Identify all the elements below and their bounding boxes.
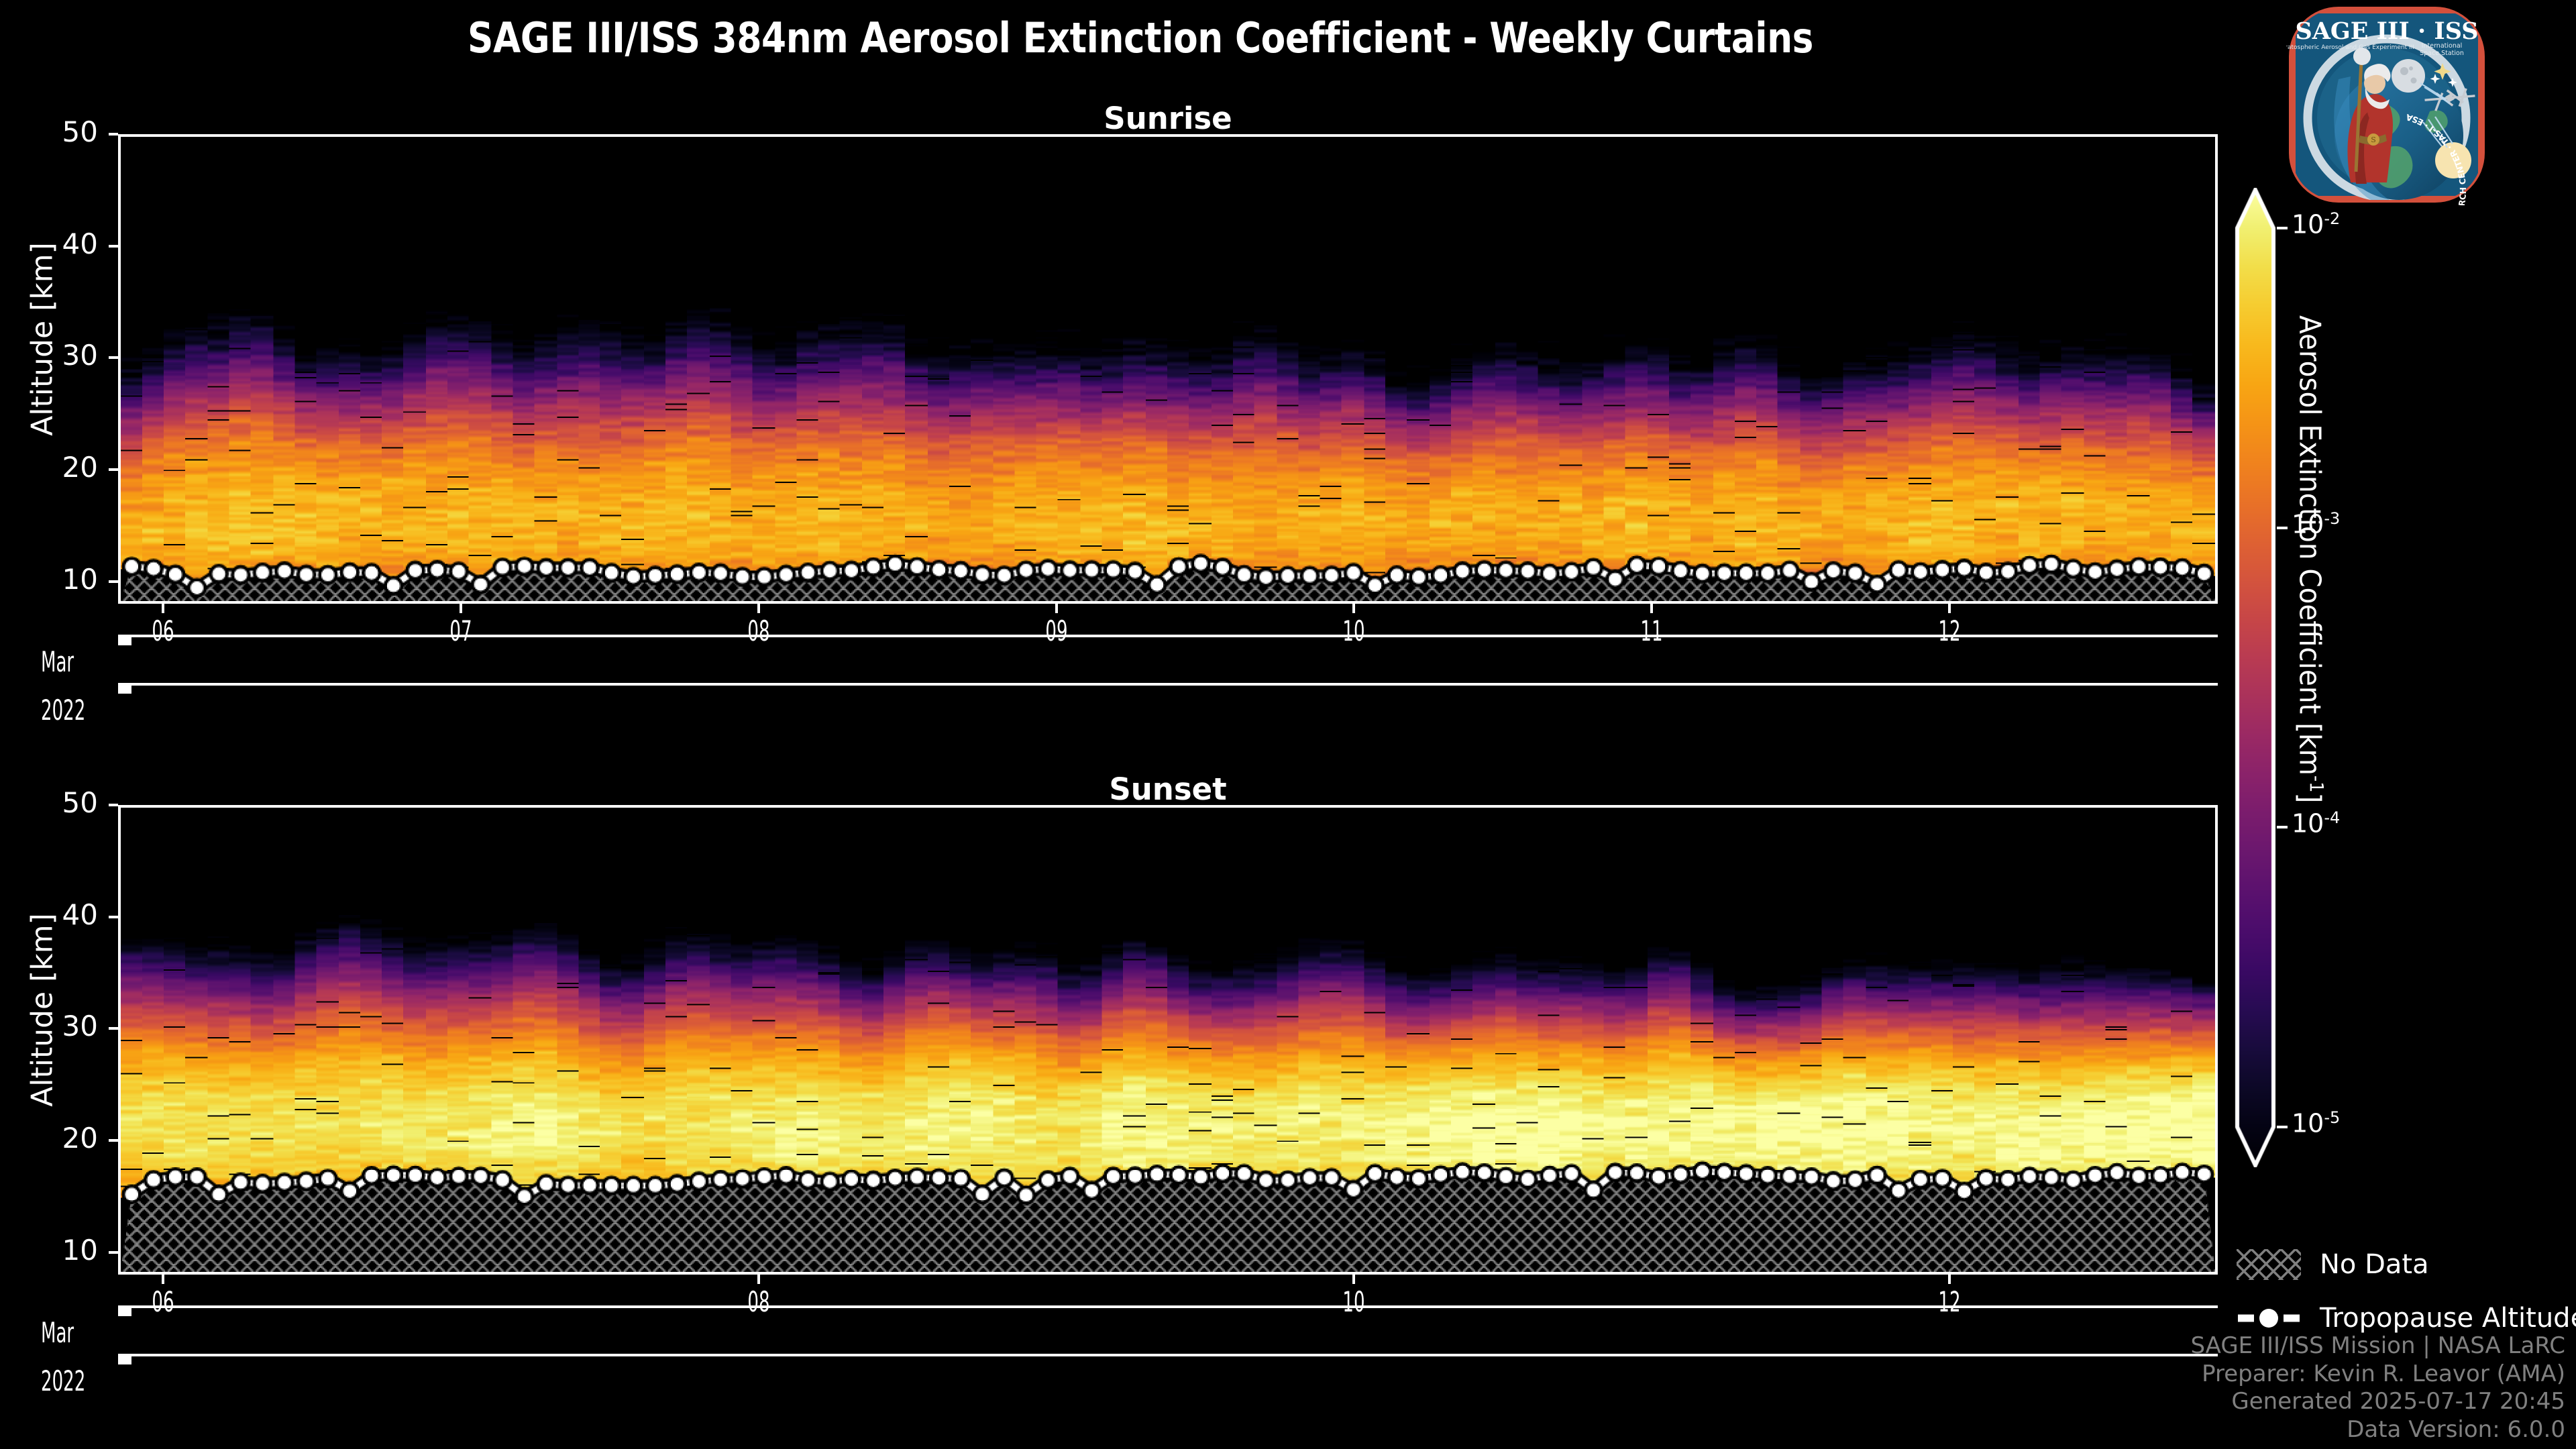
colorbar-axis-label: Aerosol Extinction Coefficient [km-1]	[2292, 315, 2328, 803]
x-axis-month-band-label: Mar	[41, 645, 74, 678]
y-tick-label: 10	[17, 563, 98, 596]
x-axis-year-band-tick	[118, 1356, 131, 1364]
x-tick-mark	[1948, 604, 1951, 613]
footer-credits: SAGE III/ISS Mission | NASA LaRC Prepare…	[2190, 1332, 2565, 1444]
y-tick-label: 40	[17, 227, 98, 260]
page-title: SAGE III/ISS 384nm Aerosol Extinction Co…	[160, 13, 2121, 62]
x-tick-mark	[1948, 1275, 1951, 1284]
x-tick-label: 06	[138, 1285, 187, 1318]
x-tick-label: 09	[1031, 614, 1081, 647]
x-tick-label: 12	[1925, 614, 1974, 647]
sage-iii-iss-mission-patch: S SAGE III · ISS Stratospheric Aerosol a…	[2286, 4, 2487, 205]
x-axis-year-band-tick	[118, 686, 131, 694]
panel-title-sunrise: Sunrise	[118, 101, 2218, 136]
x-axis-year-band-label: 2022	[41, 1364, 85, 1397]
x-tick-label: 12	[1925, 1285, 1974, 1318]
colorbar-tick-mark	[2277, 527, 2288, 529]
footer-line-preparer: Preparer: Kevin R. Leavor (AMA)	[2190, 1360, 2565, 1388]
footer-line-generated: Generated 2025-07-17 20:45	[2190, 1388, 2565, 1415]
legend-label-tropopause: Tropopause Altitude	[2320, 1303, 2576, 1334]
x-tick-mark	[162, 1275, 164, 1284]
y-tick-mark	[109, 916, 118, 918]
y-tick-label: 30	[17, 339, 98, 372]
y-tick-mark	[109, 580, 118, 583]
y-tick-mark	[109, 245, 118, 248]
x-tick-mark	[460, 604, 462, 613]
y-tick-mark	[109, 133, 118, 136]
x-tick-mark	[757, 604, 760, 613]
x-tick-mark	[757, 1275, 760, 1284]
x-axis-month-band-line	[118, 1305, 2218, 1308]
y-tick-mark	[109, 468, 118, 471]
y-tick-label: 40	[17, 898, 98, 931]
y-tick-label: 20	[17, 451, 98, 484]
y-tick-label: 10	[17, 1234, 98, 1267]
x-axis-year-band-line	[118, 1354, 2218, 1356]
x-tick-label: 11	[1627, 614, 1676, 647]
y-tick-mark	[109, 804, 118, 806]
no-data-hatch-swatch	[2237, 1249, 2301, 1280]
x-tick-mark	[1055, 604, 1058, 613]
x-axis-month-band-label: Mar	[41, 1316, 74, 1349]
colorbar-tick-label: 10-2	[2292, 209, 2340, 239]
colorbar-gradient	[2234, 188, 2277, 1167]
x-tick-mark	[1650, 604, 1653, 613]
colorbar-tick-mark	[2277, 826, 2288, 828]
heatmap-sunrise	[121, 137, 2215, 601]
y-tick-mark	[109, 356, 118, 359]
svg-text:Space Station: Space Station	[2420, 50, 2464, 57]
x-tick-label: 08	[733, 614, 783, 647]
x-tick-label: 10	[1329, 614, 1379, 647]
curtain-plot-sunset	[118, 805, 2218, 1275]
heatmap-sunset	[121, 808, 2215, 1272]
y-tick-label: 30	[17, 1010, 98, 1042]
x-tick-label: 07	[435, 614, 485, 647]
colorbar	[2234, 188, 2277, 1167]
tropopause-line-marker-swatch	[2237, 1303, 2301, 1334]
svg-text:SAGE III · ISS: SAGE III · ISS	[2295, 17, 2478, 45]
x-axis-year-band-line	[118, 683, 2218, 686]
colorbar-tick-mark	[2277, 1126, 2288, 1128]
y-tick-mark	[109, 1139, 118, 1142]
x-tick-mark	[1352, 1275, 1355, 1284]
x-tick-label: 08	[733, 1285, 783, 1318]
y-tick-label: 20	[17, 1122, 98, 1155]
colorbar-tick-label: 10-5	[2292, 1108, 2340, 1138]
x-tick-label: 06	[138, 614, 187, 647]
x-axis-year-band-label: 2022	[41, 694, 85, 727]
colorbar-tick-label: 10-4	[2292, 808, 2340, 839]
colorbar-tick-mark	[2277, 227, 2288, 229]
legend-item-no-data: No Data	[2237, 1249, 2429, 1280]
curtain-plot-sunrise	[118, 134, 2218, 604]
footer-line-data-version: Data Version: 6.0.0	[2190, 1416, 2565, 1444]
svg-text:Stratospheric Aerosol and Gas: Stratospheric Aerosol and Gas Experiment…	[2286, 44, 2414, 51]
x-tick-mark	[162, 604, 164, 613]
y-tick-mark	[109, 1251, 118, 1254]
panel-title-sunset: Sunset	[118, 771, 2218, 807]
x-tick-mark	[1352, 604, 1355, 613]
y-tick-label: 50	[17, 786, 98, 819]
svg-text:International: International	[2422, 42, 2463, 50]
x-axis-month-band-tick	[118, 1308, 131, 1316]
footer-line-mission: SAGE III/ISS Mission | NASA LaRC	[2190, 1332, 2565, 1360]
x-axis-month-band-tick	[118, 637, 131, 645]
legend-item-tropopause: Tropopause Altitude	[2237, 1303, 2576, 1334]
legend-label-no-data: No Data	[2320, 1249, 2429, 1280]
x-axis-month-band-line	[118, 635, 2218, 637]
svg-text:S: S	[2371, 136, 2376, 144]
x-tick-label: 10	[1329, 1285, 1379, 1318]
y-tick-mark	[109, 1027, 118, 1030]
y-tick-label: 50	[17, 115, 98, 148]
